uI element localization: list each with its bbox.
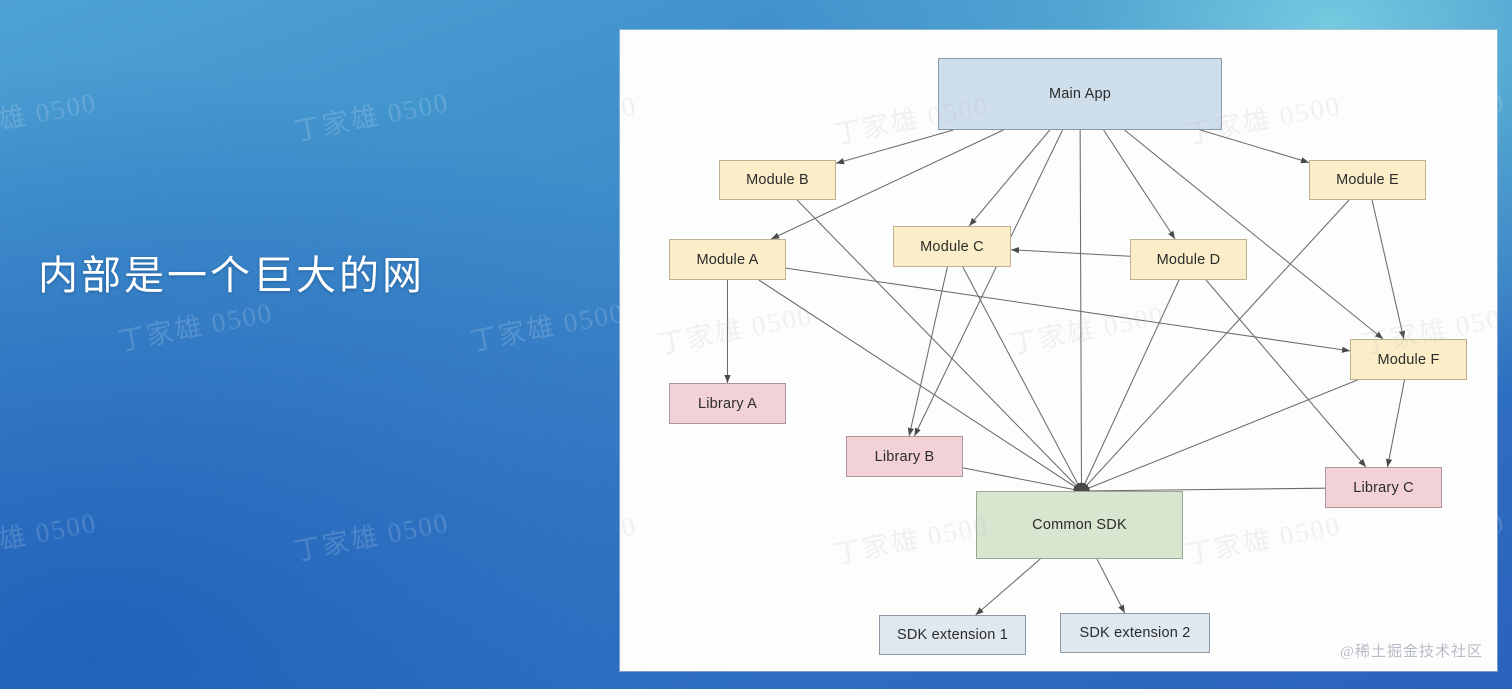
graph-node-label: Module F	[1377, 352, 1439, 368]
watermark-text: 丁家雄 0500	[290, 80, 452, 148]
graph-edge-sdk-to-ext1	[976, 559, 1041, 615]
watermark-text: 丁家雄 0500	[290, 500, 452, 568]
graph-edge-app-to-modd	[1104, 130, 1175, 239]
graph-node-label: Main App	[1049, 86, 1111, 102]
graph-node-ext1[interactable]: SDK extension 1	[879, 615, 1026, 655]
graph-edge-modd-to-modc	[1011, 250, 1130, 257]
graph-edge-modd-to-libc	[1206, 280, 1366, 467]
graph-node-app[interactable]: Main App	[938, 58, 1222, 130]
graph-node-label: Module B	[746, 172, 809, 188]
graph-node-label: SDK extension 1	[897, 627, 1008, 643]
graph-node-label: Module E	[1336, 172, 1399, 188]
diagram-panel: 丁家雄 0500丁家雄 0500丁家雄 0500丁家雄 0500丁家雄 0500…	[620, 30, 1497, 671]
graph-node-label: Module C	[920, 239, 984, 255]
slide-canvas: 丁家雄 0500丁家雄 0500丁家雄 0500丁家雄 0500丁家雄 0500…	[0, 0, 1512, 689]
graph-edge-modd-to-sdk	[1082, 280, 1180, 491]
graph-node-modf[interactable]: Module F	[1350, 339, 1467, 380]
graph-node-libc[interactable]: Library C	[1325, 467, 1442, 508]
watermark-text: 丁家雄 0500	[466, 290, 628, 358]
graph-edge-modc-to-sdk	[963, 267, 1082, 491]
graph-node-label: Module D	[1157, 252, 1221, 268]
graph-edge-app-to-libb	[914, 130, 1062, 436]
graph-node-modb[interactable]: Module B	[719, 160, 836, 200]
graph-node-modc[interactable]: Module C	[893, 226, 1011, 267]
watermark-text: 丁家雄 0500	[0, 80, 100, 148]
watermark-text: 丁家雄 0500	[0, 500, 100, 568]
graph-node-label: Library B	[875, 449, 935, 465]
corner-watermark: @稀土掘金技术社区	[1340, 640, 1483, 661]
graph-node-mode[interactable]: Module E	[1309, 160, 1426, 200]
page-title: 内部是一个巨大的网	[38, 243, 425, 301]
graph-node-liba[interactable]: Library A	[669, 383, 786, 424]
graph-node-label: Common SDK	[1032, 517, 1127, 533]
graph-edge-modf-to-sdk	[1082, 380, 1358, 491]
graph-node-ext2[interactable]: SDK extension 2	[1060, 613, 1210, 653]
graph-node-libb[interactable]: Library B	[846, 436, 963, 477]
graph-node-modd[interactable]: Module D	[1130, 239, 1247, 280]
graph-edge-app-to-mode	[1200, 130, 1309, 163]
graph-edge-app-to-modb	[836, 130, 953, 163]
graph-node-label: Module A	[696, 252, 758, 268]
graph-edge-sdk-to-ext2	[1097, 559, 1125, 613]
graph-node-label: SDK extension 2	[1079, 625, 1190, 641]
graph-edge-modc-to-libb	[909, 267, 947, 436]
graph-edge-mode-to-modf	[1372, 200, 1404, 339]
graph-node-label: Library C	[1353, 480, 1414, 496]
graph-edge-moda-to-modf	[786, 268, 1350, 351]
graph-node-label: Library A	[698, 396, 757, 412]
graph-node-moda[interactable]: Module A	[669, 239, 786, 280]
graph-edge-app-to-modc	[969, 130, 1050, 226]
graph-edge-app-to-sdk	[1080, 130, 1081, 491]
graph-node-sdk[interactable]: Common SDK	[976, 491, 1183, 559]
graph-edge-modf-to-libc	[1388, 380, 1405, 467]
